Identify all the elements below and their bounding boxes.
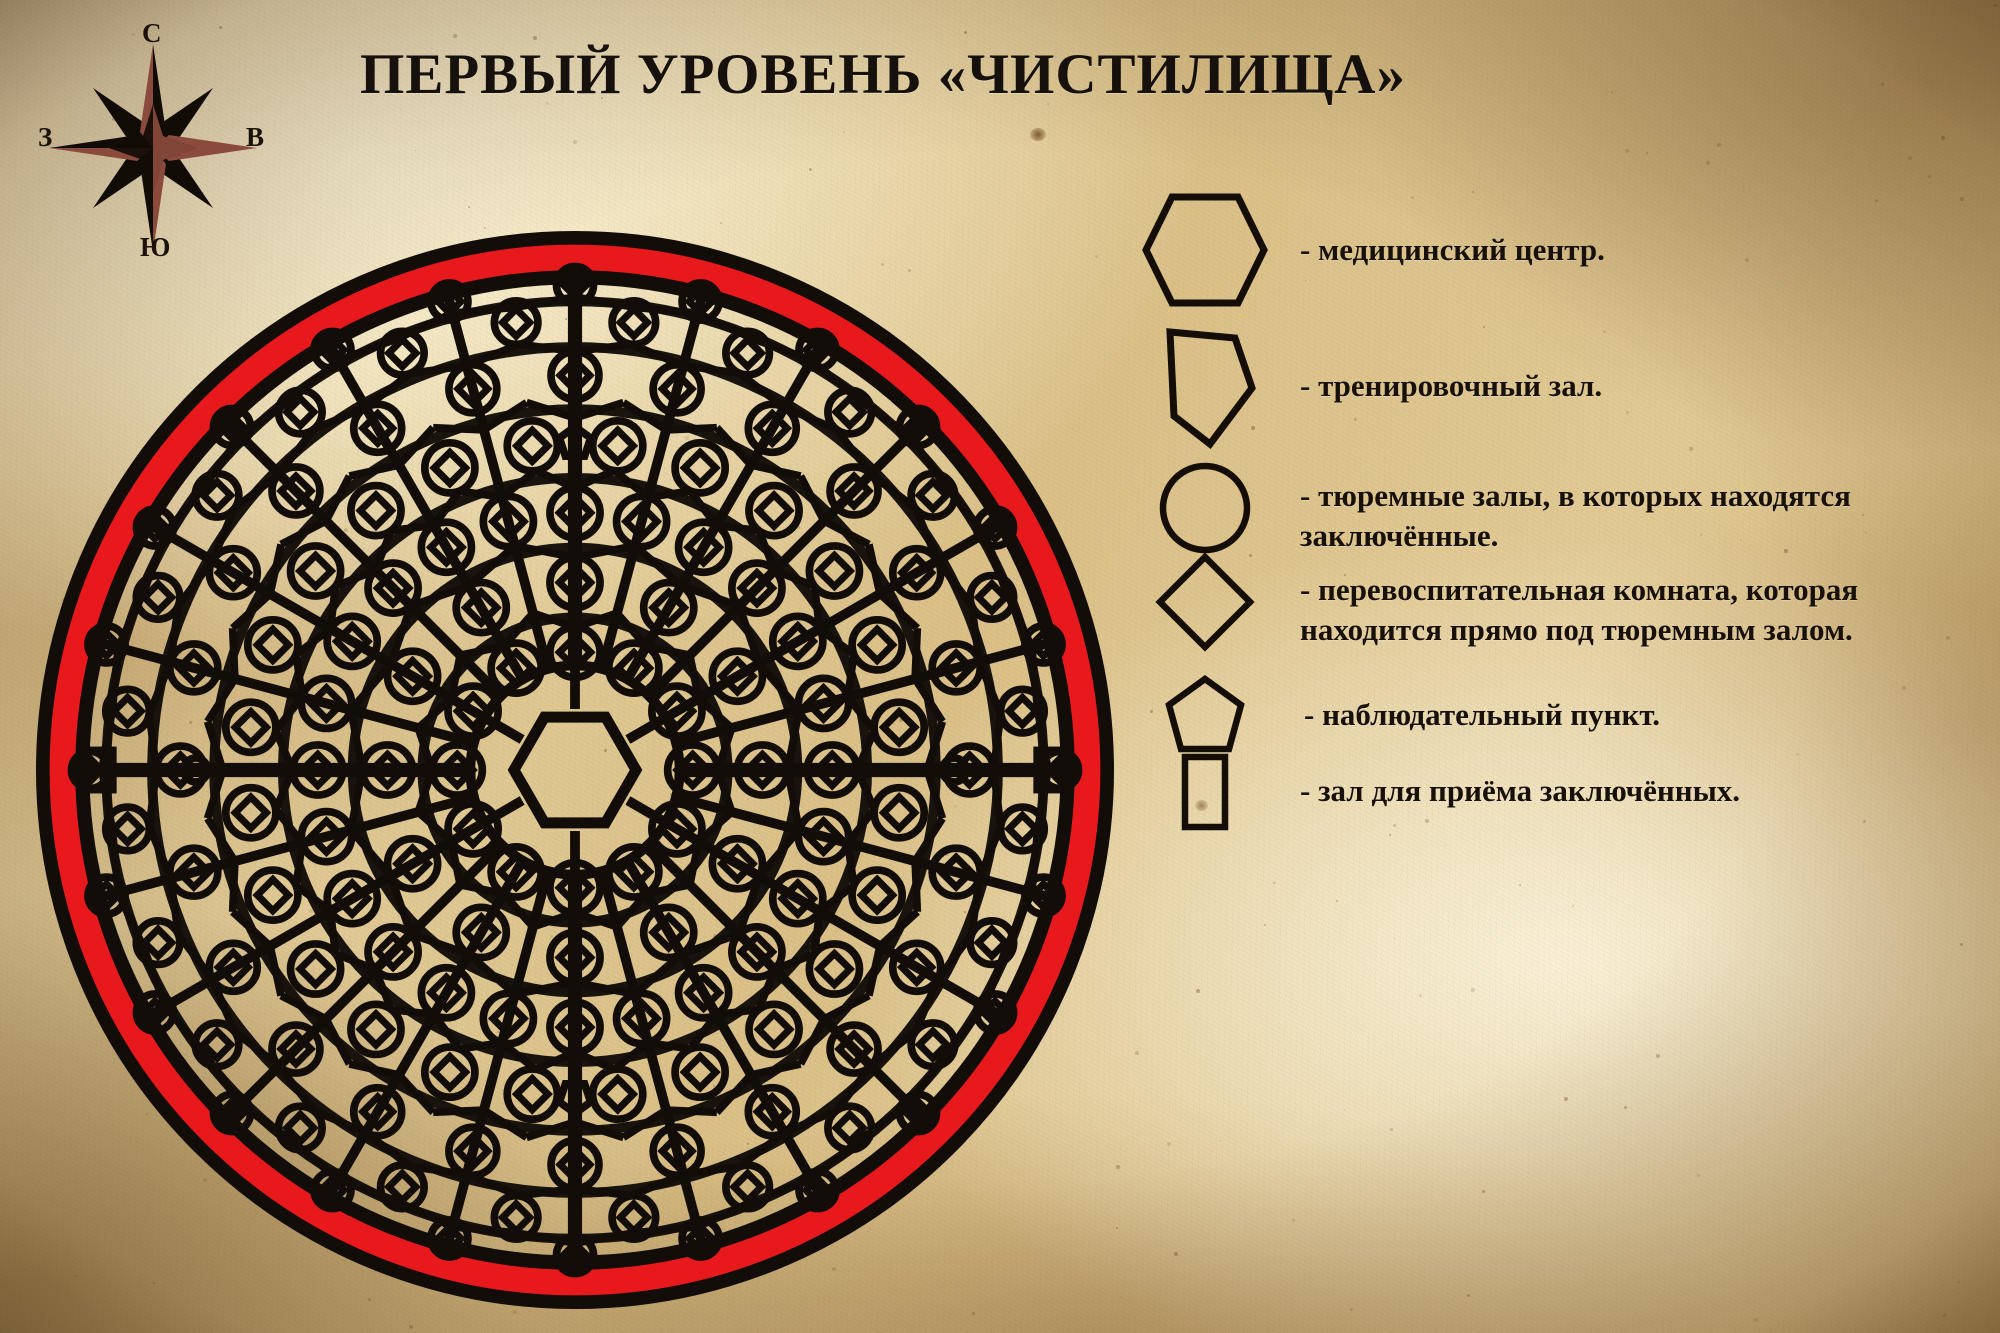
pentagon-icon [1120,324,1290,454]
legend-item-reeducation-room[interactable]: - перевоспитательная комната, которая на… [1120,562,1980,651]
legend-label-reception-hall: - зал для приёма заключённых. [1300,771,1740,811]
rectangle-icon [1120,757,1290,829]
legend-item-training-hall[interactable]: - тренировочный зал. [1120,324,1980,454]
purgatory-level-one-map[interactable] [30,225,1120,1315]
legend-item-reception-hall[interactable]: - зал для приёма заключённых. [1120,757,1980,829]
legend-label-reeducation-room: - перевоспитательная комната, которая на… [1300,570,1980,651]
page-title: ПЕРВЫЙ УРОВЕНЬ «ЧИСТИЛИЩА» [360,42,1260,107]
legend-label-training-hall: - тренировочный зал. [1300,366,1602,406]
map-diagram[interactable] [30,225,1120,1315]
legend-item-prison-halls[interactable]: - тюремные залы, в которых находятся зак… [1120,458,1980,558]
legend-item-medical-center[interactable]: - медицинский центр. [1120,180,1980,320]
hexagon-icon [1120,180,1290,320]
legend-label-prison-halls: - тюремные залы, в которых находятся зак… [1300,476,1980,557]
compass-label-west: З [38,122,52,153]
compass-label-east: В [246,122,264,153]
circle-icon [1120,458,1290,558]
legend-label-observation-post: - наблюдательный пункт. [1304,695,1660,735]
legend: - медицинский центр. - тренировочный зал… [1120,180,1980,833]
diamond-icon [1120,562,1290,642]
compass-label-north: С [142,18,162,49]
legend-label-medical-center: - медицинский центр. [1300,230,1605,270]
